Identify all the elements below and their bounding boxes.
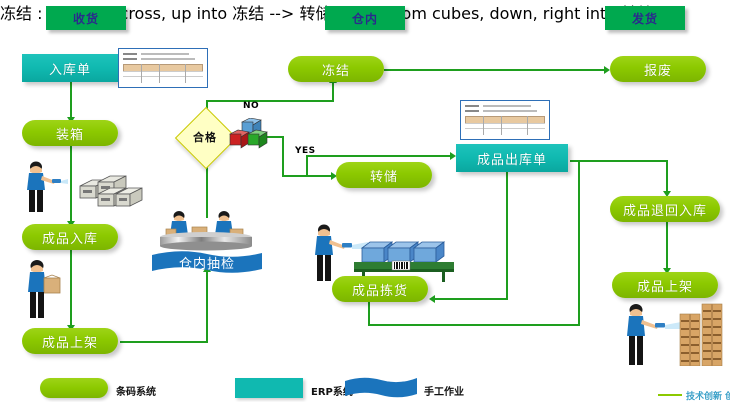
node-fg-picking[interactable]: 成品拣货 (332, 276, 428, 302)
edge-qualified-no-h (206, 100, 334, 102)
node-label: 装箱 (56, 124, 84, 143)
node-label: 成品上架 (637, 276, 693, 295)
edge-outbound-right-rail-v (666, 160, 668, 192)
node-label: 成品入库 (42, 228, 98, 247)
node-fg-outbound-order[interactable]: 成品出库单 (456, 144, 568, 172)
edge-fg-putaway-left-to-sampling-v (206, 271, 208, 343)
node-label: 冻结 (322, 60, 350, 79)
edge-return-to-putaway-right (666, 221, 668, 269)
worker-scanning-icon (24, 160, 68, 214)
manual-task-in-warehouse-sampling[interactable]: 仓内抽检 (152, 250, 262, 274)
form-document-icon (118, 48, 208, 88)
edge-outbound-to-picking-h (434, 298, 508, 300)
node-fg-return-inbound[interactable]: 成品退回入库 (610, 196, 720, 222)
carton-stack-icon (78, 168, 144, 208)
edge-qualified-no-v2 (332, 82, 334, 102)
node-label: 成品出库单 (477, 149, 547, 168)
edge-outbound-to-picking-v (506, 172, 508, 300)
node-label: 转储 (370, 166, 398, 185)
node-transfer-storage[interactable]: 转储 (336, 162, 432, 188)
legend-label-manual-work: 手工作业 (424, 383, 464, 398)
worker-picking-conveyor-icon (310, 222, 462, 284)
worker-scanning-racking-icon (618, 300, 726, 366)
phase-banner-receiving: 收货 (46, 6, 126, 30)
edge-inbound-order-to-packing (70, 82, 72, 118)
flowchart-canvas: 收货 仓内 发货 冻结 : left-up, across, up into 冻… (0, 0, 730, 402)
legend-swatch-erp-system (235, 378, 303, 398)
node-scrap[interactable]: 报废 (610, 56, 706, 82)
node-label: 报废 (644, 60, 672, 79)
decision-label: 合格 (193, 129, 217, 145)
edge-transfer-to-outbound-h (306, 155, 452, 157)
node-fg-inbound[interactable]: 成品入库 (22, 224, 118, 250)
legend-swatch-barcode-system (40, 378, 108, 398)
edge-picking-to-right-h (368, 324, 580, 326)
node-label: 成品上架 (42, 332, 98, 351)
node-packing[interactable]: 装箱 (22, 120, 118, 146)
legend-swatch-manual-work (345, 376, 417, 398)
edge-picking-down-v (368, 302, 370, 326)
form-document-icon-outbound (460, 100, 550, 140)
node-inbound-order[interactable]: 入库单 (22, 54, 118, 82)
phase-banner-in-warehouse: 仓内 (325, 6, 405, 30)
edge-label-no: NO (243, 101, 259, 111)
arrowhead (429, 295, 435, 303)
phase-banner-label: 仓内 (352, 10, 378, 27)
edge-outbound-right-rail-h (570, 160, 668, 162)
worker-carrying-box-icon (24, 258, 64, 320)
watermark-rule (658, 394, 682, 396)
edge-picking-right-up-v (578, 160, 580, 326)
node-label: 入库单 (49, 59, 91, 78)
edge-fg-inbound-to-fg-putaway-left (70, 250, 72, 326)
node-fg-putaway-left[interactable]: 成品上架 (22, 328, 118, 354)
node-label: 成品拣货 (352, 280, 408, 299)
node-label: 成品退回入库 (623, 200, 707, 219)
inspection-table-workers-icon (152, 210, 260, 252)
legend-label-barcode-system: 条码系统 (116, 383, 156, 398)
edge-qualified-yes-h2 (282, 175, 332, 177)
manual-task-label: 仓内抽检 (152, 250, 262, 274)
phase-banner-label: 发货 (632, 10, 658, 27)
colored-cubes-icon (228, 118, 270, 154)
edge-transfer-to-outbound-v (306, 155, 308, 175)
edge-packing-to-fg-inbound (70, 146, 72, 222)
node-fg-putaway-right[interactable]: 成品上架 (612, 272, 718, 298)
edge-frozen-to-scrap (384, 69, 606, 71)
phase-banner-label: 收货 (73, 10, 99, 27)
edge-qualified-yes-v (282, 136, 284, 176)
phase-banner-shipping: 发货 (605, 6, 685, 30)
decision-qualified-label-wrap: 合格 (180, 126, 230, 148)
node-frozen[interactable]: 冻结 (288, 56, 384, 82)
watermark-text: 技术创新 创... (686, 389, 730, 402)
edge-fg-putaway-left-to-sampling-h (120, 341, 208, 343)
